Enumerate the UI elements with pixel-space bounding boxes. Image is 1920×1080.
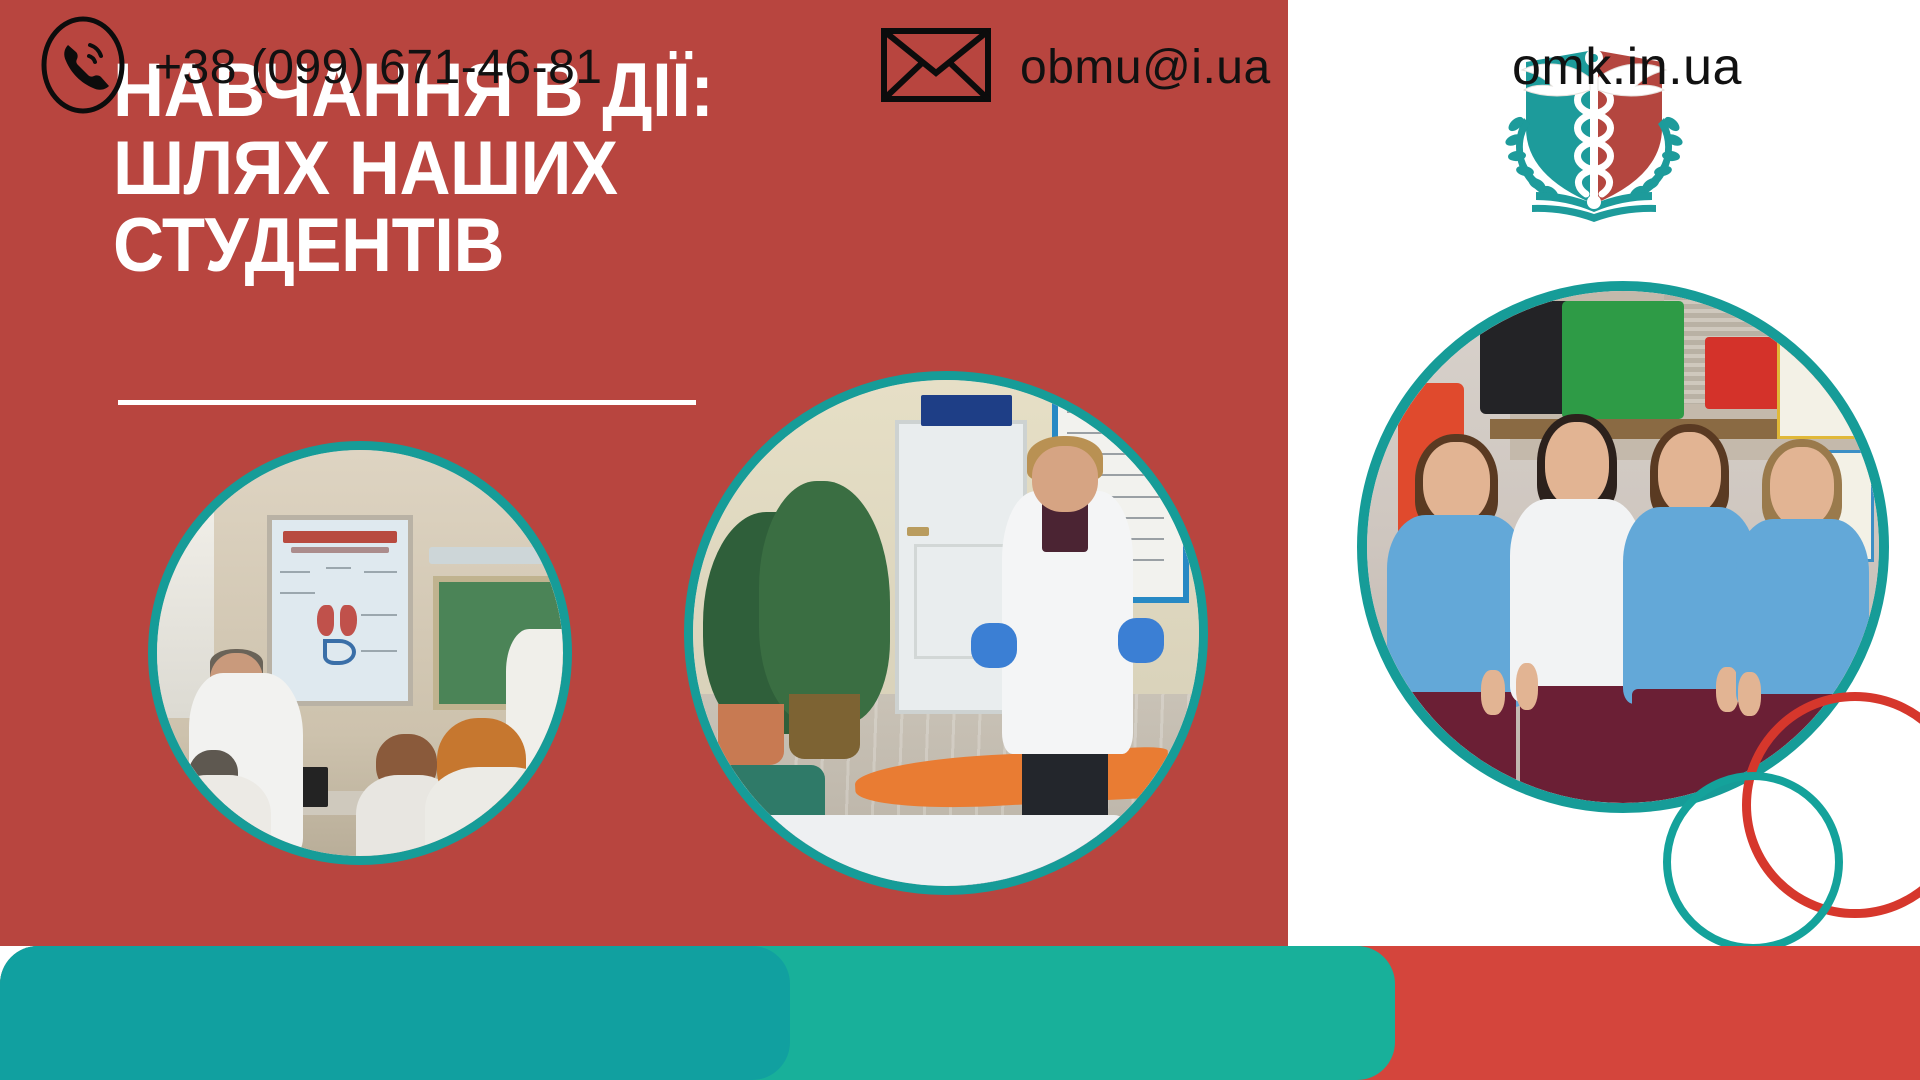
website-url: omk.in.ua [1512,37,1742,97]
decorative-ring-teal [1663,772,1843,952]
photo-classroom [148,441,572,865]
phone-number: +38 (099) 671-46-81 [154,40,602,95]
page-title-line-3: СТУДЕНТІВ [113,207,913,285]
contact-email[interactable]: obmu@i.ua [880,0,1271,134]
photo-corridor [684,371,1208,895]
title-divider-rule [118,400,696,405]
contact-bar-teal [0,946,790,1080]
page-title-line-2: ШЛЯХ НАШИХ [113,130,913,208]
email-address: obmu@i.ua [1020,40,1271,95]
phone-in-circle-icon [40,15,126,120]
poster-canvas: НАВЧАННЯ В ДІЇ: ШЛЯХ НАШИХ СТУДЕНТІВ [0,0,1920,1080]
contact-website[interactable]: omk.in.ua [1512,0,1742,134]
envelope-icon [880,25,992,110]
door-sign [921,395,1012,425]
anatomy-poster [267,515,413,706]
contact-phone[interactable]: +38 (099) 671-46-81 [40,0,602,134]
